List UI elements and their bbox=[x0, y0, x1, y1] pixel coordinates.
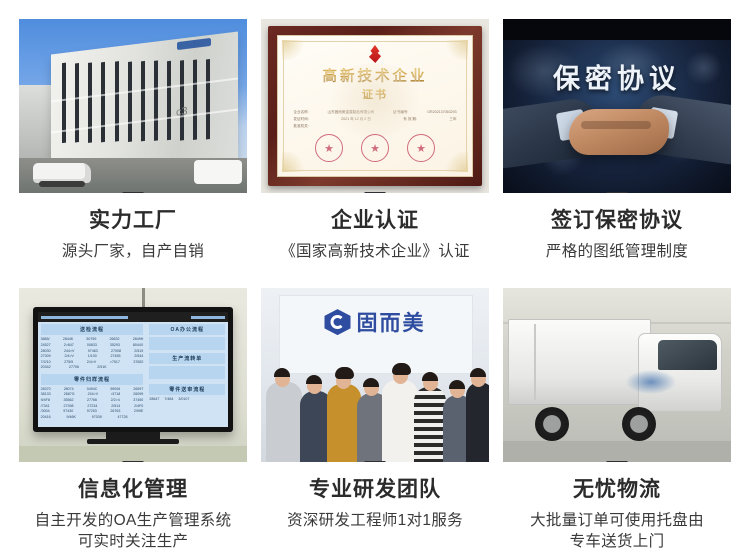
feature-caption: 实力工厂 源头厂家，自产自销 bbox=[19, 193, 247, 263]
caption-pointer-icon bbox=[122, 192, 144, 193]
feature-caption: 企业认证 《国家高新技术企业》认证 bbox=[261, 193, 489, 263]
card-subtitle-line: 大批量订单可使用托盘由 bbox=[503, 511, 731, 532]
feature-card-enterprise-certification[interactable]: 高新技术企业 证书 企业名称: 山东固而美金属制品有限公司 证书编号: GR20… bbox=[261, 19, 489, 288]
certificate-field-label: 发证时间: bbox=[293, 116, 308, 123]
screen-panel-block bbox=[149, 337, 225, 350]
screen-right-column: OA办公流程 生产流转单 零件送审流程 286477/4843/0107 bbox=[146, 322, 228, 427]
parked-van bbox=[33, 163, 91, 183]
screen-panel-block bbox=[149, 366, 225, 379]
card-title: 信息化管理 bbox=[19, 478, 247, 502]
certificate-paper: 高新技术企业 证书 企业名称: 山东固而美金属制品有限公司 证书编号: GR20… bbox=[277, 35, 473, 177]
delivery-truck-illustration bbox=[503, 288, 731, 462]
certificate-wood-frame: 高新技术企业 证书 企业名称: 山东固而美金属制品有限公司 证书编号: GR20… bbox=[268, 26, 482, 186]
screen-data-rows: 286477/4843/0107 bbox=[149, 397, 225, 403]
truck-wheel bbox=[535, 407, 569, 441]
oa-monitor-photo: 送检流程 3865/2844K50759266322849H 245272>84… bbox=[19, 288, 247, 462]
adjacent-lowrise-building bbox=[19, 85, 55, 158]
card-subtitle: 严格的图纸管理制度 bbox=[503, 242, 731, 263]
screen-title-bar bbox=[38, 312, 229, 322]
delivery-truck-photo bbox=[503, 288, 731, 462]
certificate-field-value: GR202137063293 bbox=[427, 109, 456, 116]
official-seal-icon: ★ bbox=[315, 134, 343, 162]
card-subtitle: 《国家高新技术企业》认证 bbox=[261, 242, 489, 263]
screen-panel-heading: 零件送审流程 bbox=[149, 384, 225, 395]
card-title: 签订保密协议 bbox=[503, 209, 731, 233]
card-title: 实力工厂 bbox=[19, 209, 247, 233]
certificate-field-label: 企业名称: bbox=[293, 109, 308, 116]
feature-card-strength-factory[interactable]: c3 实力工厂 源头厂家，自产自销 bbox=[19, 19, 247, 288]
card-subtitle: 资深研发工程师1对1服务 bbox=[261, 511, 489, 532]
company-logo-mark-icon bbox=[325, 309, 351, 335]
caption-pointer-icon bbox=[364, 461, 386, 462]
certificate-corner-ornament bbox=[282, 152, 308, 172]
feature-grid: c3 实力工厂 源头厂家，自产自销 bbox=[19, 19, 731, 557]
building-unit-label: c3 bbox=[176, 105, 188, 118]
rd-team-photo: 固而美 bbox=[261, 288, 489, 462]
card-subtitle-line: 可实时关注生产 bbox=[19, 532, 247, 553]
screen-panel-heading: 零件归样流程 bbox=[41, 374, 144, 385]
certificate-field-label: 批准机关: bbox=[293, 123, 308, 130]
caption-pointer-icon bbox=[606, 461, 628, 462]
card-title: 专业研发团队 bbox=[261, 478, 489, 502]
feature-card-nda-signing[interactable]: 保密协议 签订保密协议 严格的图纸管理制度 bbox=[503, 19, 731, 288]
certificate-illustration: 高新技术企业 证书 企业名称: 山东固而美金属制品有限公司 证书编号: GR20… bbox=[261, 19, 489, 193]
monitor-foot bbox=[87, 439, 178, 443]
truck-windshield bbox=[658, 340, 717, 370]
official-seal-icon: ★ bbox=[361, 134, 389, 162]
card-subtitle-line: 自主开发的OA生产管理系统 bbox=[19, 511, 247, 532]
certificate-field-value: 三年 bbox=[449, 116, 456, 123]
certificate-watermark bbox=[321, 64, 430, 137]
photo-top-band bbox=[503, 19, 731, 40]
parked-van-right bbox=[194, 160, 242, 184]
company-logo-text: 固而美 bbox=[357, 307, 426, 337]
nda-overlay-text: 保密协议 bbox=[503, 57, 731, 96]
caption-pointer-icon bbox=[122, 461, 144, 462]
company-logo: 固而美 bbox=[325, 307, 426, 337]
handshake-icon bbox=[569, 109, 669, 154]
feature-card-informatization-management[interactable]: 送检流程 3865/2844K50759266322849H 245272>84… bbox=[19, 288, 247, 557]
monitor-stand bbox=[106, 432, 161, 439]
card-title: 企业认证 bbox=[261, 209, 489, 233]
factory-building-illustration: c3 bbox=[19, 19, 247, 193]
caption-pointer-icon bbox=[364, 192, 386, 193]
rd-team-illustration: 固而美 bbox=[261, 288, 489, 462]
monitor-bezel: 送检流程 3865/2844K50759266322849H 245272>84… bbox=[33, 307, 234, 432]
certificate-corner-ornament bbox=[442, 40, 468, 60]
truck-wheel bbox=[622, 407, 656, 441]
screen-data-rows: 28370280740494C5900626597 381332687G244>… bbox=[41, 387, 144, 420]
factory-building-photo: c3 bbox=[19, 19, 247, 193]
handshake-nda-illustration: 保密协议 bbox=[503, 19, 731, 193]
truck-cargo-box bbox=[508, 319, 651, 405]
certificate-corner-ornament bbox=[282, 40, 308, 60]
card-subtitle-line: 专车送货上门 bbox=[503, 532, 731, 553]
certificate-flame-emblem-icon bbox=[367, 45, 383, 63]
official-seal-icon: ★ bbox=[407, 134, 435, 162]
screen-content: 送检流程 3865/2844K50759266322849H 245272>84… bbox=[38, 322, 229, 427]
feature-caption: 信息化管理 自主开发的OA生产管理系统 可实时关注生产 bbox=[19, 462, 247, 553]
feature-caption: 专业研发团队 资深研发工程师1对1服务 bbox=[261, 462, 489, 532]
truck-ground bbox=[503, 441, 731, 462]
screen-panel-heading: 送检流程 bbox=[41, 324, 144, 335]
feature-card-rd-team[interactable]: 固而美 bbox=[261, 288, 489, 557]
team-members-group bbox=[261, 354, 489, 462]
certificate-photo: 高新技术企业 证书 企业名称: 山东固而美金属制品有限公司 证书编号: GR20… bbox=[261, 19, 489, 193]
screen-panel-heading: OA办公流程 bbox=[149, 324, 225, 335]
screen-panel-heading: 生产流转单 bbox=[149, 353, 225, 364]
monitor-screen: 送检流程 3865/2844K50759266322849H 245272>84… bbox=[38, 312, 229, 427]
certificate-seals: ★ ★ ★ bbox=[315, 134, 435, 162]
feature-grid-page: c3 实力工厂 源头厂家，自产自销 bbox=[0, 0, 750, 557]
feature-card-worry-free-logistics[interactable]: 无忧物流 大批量订单可使用托盘由 专车送货上门 bbox=[503, 288, 731, 557]
room-wall-base bbox=[19, 446, 247, 462]
screen-left-column: 送检流程 3865/2844K50759266322849H 245272>84… bbox=[38, 322, 147, 427]
card-title: 无忧物流 bbox=[503, 478, 731, 502]
certificate-corner-ornament bbox=[442, 152, 468, 172]
truck-door-decal bbox=[626, 370, 676, 394]
screen-data-rows: 3865/2844K50759266322849H 245272>8470083… bbox=[41, 337, 144, 370]
caption-pointer-icon bbox=[606, 192, 628, 193]
card-subtitle: 源头厂家，自产自销 bbox=[19, 242, 247, 263]
oa-monitor-illustration: 送检流程 3865/2844K50759266322849H 245272>84… bbox=[19, 288, 247, 462]
feature-caption: 签订保密协议 严格的图纸管理制度 bbox=[503, 193, 731, 263]
feature-caption: 无忧物流 大批量订单可使用托盘由 专车送货上门 bbox=[503, 462, 731, 553]
card-subtitle: 大批量订单可使用托盘由 专车送货上门 bbox=[503, 511, 731, 553]
handshake-nda-photo: 保密协议 bbox=[503, 19, 731, 193]
card-subtitle: 自主开发的OA生产管理系统 可实时关注生产 bbox=[19, 511, 247, 553]
monitor-cable bbox=[142, 288, 145, 309]
